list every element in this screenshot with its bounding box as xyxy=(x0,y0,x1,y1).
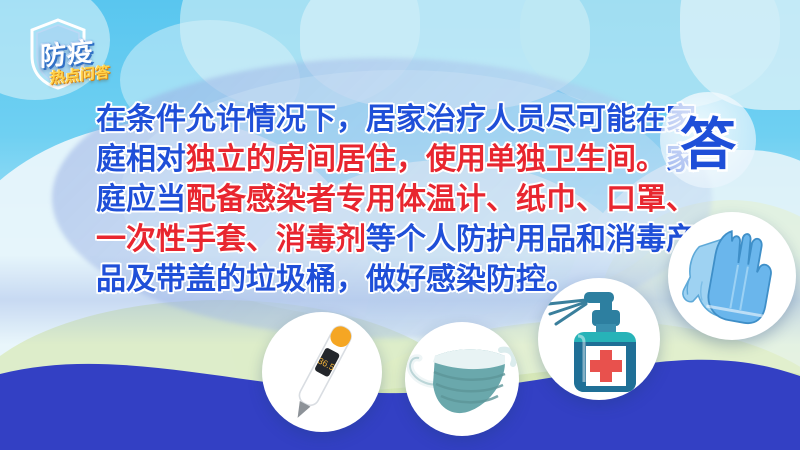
answer-segment: 等个人防护用品和消毒产 xyxy=(366,223,696,256)
answer-segment: 庭相对 xyxy=(96,143,186,176)
answer-segment: 独立的房间居住，使用单独卫生间。 xyxy=(186,143,666,176)
answer-segment: 庭应当 xyxy=(96,183,186,216)
thermometer-icon: 36.5 xyxy=(262,312,382,432)
answer-segment: 品及带盖的垃圾桶，做好感染防控。 xyxy=(96,263,576,296)
answer-line: 一次性手套、消毒剂等个人防护用品和消毒产 xyxy=(96,220,662,260)
hand-sanitizer-icon xyxy=(538,278,660,400)
thermometer-bubble: 36.5 xyxy=(262,312,382,432)
blue-wave xyxy=(0,340,800,450)
fangyi-logo: 防疫 热点问答 xyxy=(14,16,142,94)
disposable-gloves-bubble xyxy=(668,212,796,340)
answer-segment: 在条件允许情况下，居家治疗人员尽可能在家 xyxy=(96,103,696,136)
disposable-gloves-icon xyxy=(668,212,796,340)
answer-badge-char: 答 xyxy=(660,92,756,188)
hand-sanitizer-bubble xyxy=(538,278,660,400)
face-mask-bubble xyxy=(405,322,519,436)
answer-line: 庭应当配备感染者专用体温计、纸巾、口罩、 xyxy=(96,180,662,220)
answer-text-block: 在条件允许情况下，居家治疗人员尽可能在家庭相对独立的房间居住，使用单独卫生间。家… xyxy=(96,100,662,300)
answer-line: 庭相对独立的房间居住，使用单独卫生间。家 xyxy=(96,140,662,180)
answer-segment: 配备感染者专用体温计、纸巾、口罩、 xyxy=(186,183,696,216)
face-mask-icon xyxy=(405,322,519,436)
answer-line: 在条件允许情况下，居家治疗人员尽可能在家 xyxy=(96,100,662,140)
answer-segment: 一次性手套、消毒剂 xyxy=(96,223,366,256)
poster-canvas: 防疫 热点问答 在条件允许情况下，居家治疗人员尽可能在家庭相对独立的房间居住，使… xyxy=(0,0,800,450)
